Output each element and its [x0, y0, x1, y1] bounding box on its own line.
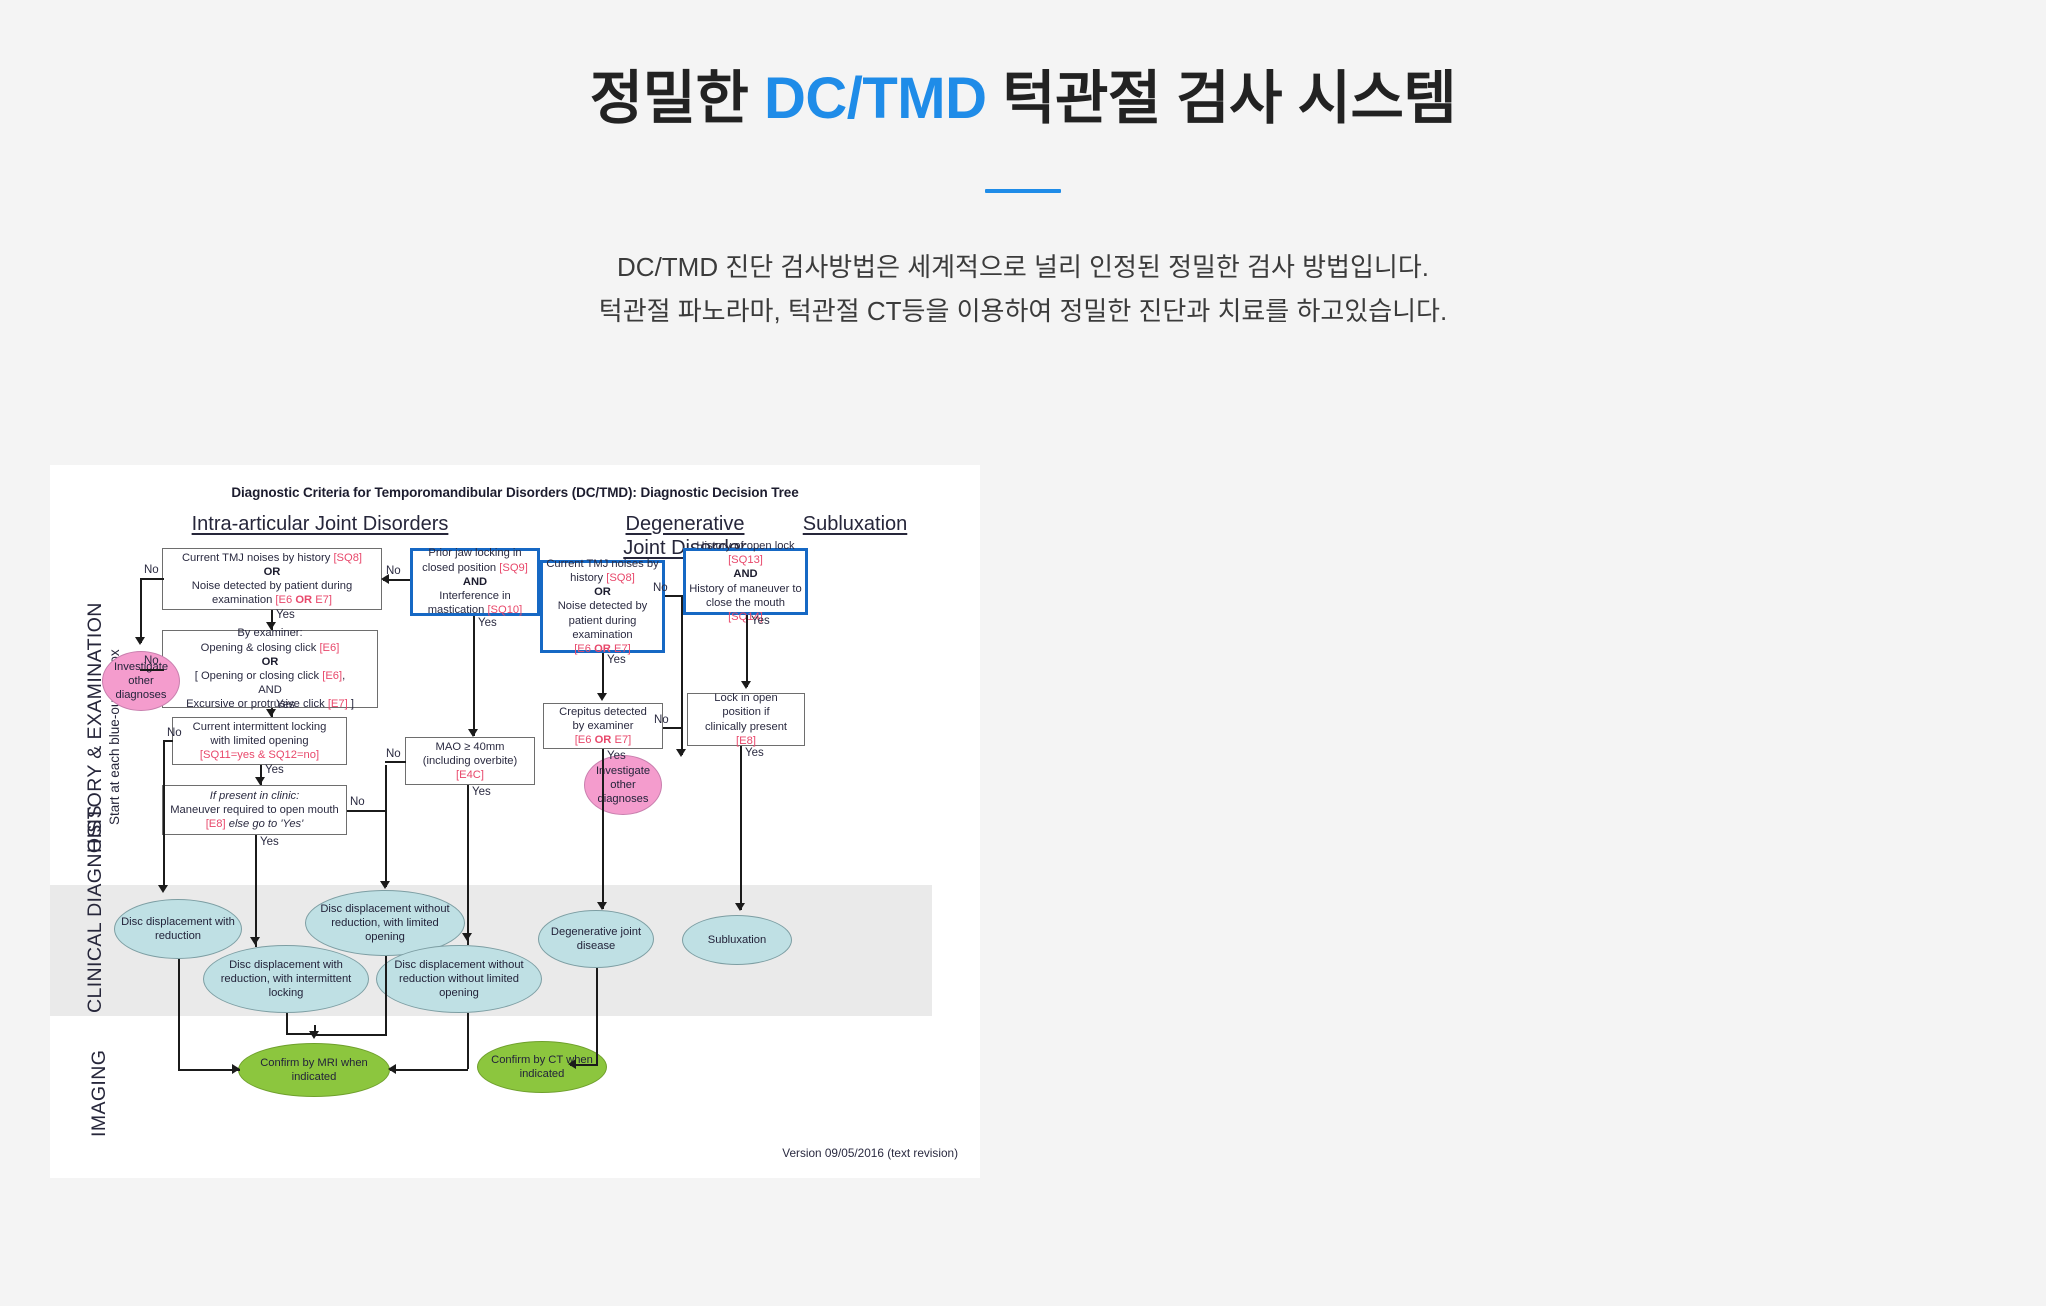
node8-code-e7: E7]: [611, 734, 631, 746]
node1-line1: Current TMJ noises by history: [182, 552, 334, 564]
node4-line3: else go to 'Yes': [226, 818, 304, 830]
side-label-clinical-diagnosis: CLINICAL DIAGNOSIS: [84, 805, 107, 1013]
edge-label-n2-yes: Yes: [276, 699, 295, 711]
edge-label-n3-no: No: [167, 727, 182, 739]
outcome-confirm-by-ct: Confirm by CT when indicated: [477, 1041, 607, 1093]
node2-line4: [ Opening or closing click: [195, 670, 322, 682]
node1-code-e6: [E6: [275, 594, 295, 606]
column-heading-intra-articular: Intra-articular Joint Disorders: [155, 513, 485, 536]
node6-line1: MAO ≥ 40mm: [436, 741, 505, 753]
edge-label-n6-no: No: [386, 748, 401, 760]
node-crepitus-detected: Crepitus detected by examiner [E6 OR E7]: [543, 703, 663, 749]
node4-code-e8: [E8]: [206, 818, 226, 830]
node10-line3: clinically present: [705, 721, 787, 733]
node-by-examiner-clicks: By examiner: Opening & closing click [E6…: [162, 630, 378, 708]
node6-code-e4c: [E4C]: [456, 769, 484, 781]
edge-dx4-mri-arrow: [388, 1064, 396, 1074]
node1-code-e7: E7]: [312, 594, 332, 606]
node2-code-e7: [E7]: [328, 698, 348, 710]
edge-label-n1-yes: Yes: [276, 609, 295, 621]
node9-line1: History of open lock: [696, 540, 794, 552]
edge-dx1-mri-v: [178, 959, 180, 1069]
edge-n2-no-h: [140, 669, 164, 671]
edge-n4-dx2: [255, 835, 257, 947]
edge-n7-n8: [602, 653, 604, 695]
edge-dx1-mri-h: [178, 1069, 240, 1071]
edge-n9-n10: [746, 615, 748, 687]
side-label-imaging-text: IMAGING: [88, 1050, 110, 1137]
node-intermittent-locking: Current intermittent locking with limite…: [172, 717, 347, 765]
node-mao-40mm: MAO ≥ 40mm (including overbite) [E4C]: [405, 737, 535, 785]
node2-line7: Excursive or protrusive click: [186, 698, 328, 710]
node2-code-e6b: [E6]: [322, 670, 342, 682]
outcome-confirm-by-mri: Confirm by MRI when indicated: [238, 1043, 390, 1097]
edge-n1-no-h: [140, 578, 164, 580]
edge-label-n2-no: No: [144, 655, 159, 667]
side-label-clinical-text: CLINICAL DIAGNOSIS: [84, 805, 106, 1013]
node5-code-sq9: [SQ9]: [499, 562, 528, 574]
edge-label-n9-yes: Yes: [751, 615, 770, 627]
edge-label-n7-no: No: [653, 582, 668, 594]
outcome-disc-displacement-with-reduction: Disc displacement with reduction: [114, 899, 242, 959]
title-divider: [985, 189, 1061, 193]
edge-dx2-mri-v: [286, 1013, 288, 1035]
node7-line1: Current TMJ noises by history: [546, 558, 658, 584]
node9-line3: History of maneuver to close the mouth: [689, 583, 802, 609]
edge-n8-no-arrow: [676, 749, 686, 757]
page-title: 정밀한 DC/TMD 턱관절 검사 시스템: [0, 66, 2046, 133]
node8-code-e6: [E6: [575, 734, 595, 746]
edge-label-n5-yes: Yes: [478, 617, 497, 629]
edge-n6-no-h: [385, 761, 406, 763]
edge-n5-n6: [473, 616, 475, 736]
node2-code-e6a: [E6]: [319, 642, 339, 654]
edge-label-n4-yes: Yes: [260, 836, 279, 848]
node7-code-e6: [E6: [574, 643, 594, 655]
node9-code-sq13: [SQ13]: [728, 554, 763, 566]
edge-label-n1-no: No: [144, 564, 159, 576]
edge-dx3-mri-v: [385, 956, 387, 1036]
node6-line2: (including overbite): [423, 755, 518, 767]
edge-dx1-mri-arrow: [232, 1064, 240, 1074]
subtitle-block: DC/TMD 진단 검사방법은 세계적으로 널리 인정된 정밀한 검사 방법입니…: [0, 245, 2046, 334]
edge-n7-no-v: [681, 595, 683, 755]
flowchart-title: Diagnostic Criteria for Temporomandibula…: [50, 485, 980, 500]
outcome-investigate-other-diagnoses-left: Investigate other diagnoses: [102, 651, 180, 711]
edge-dx5-ct-arrow: [568, 1059, 576, 1069]
node3-line1: Current intermittent locking: [193, 721, 327, 733]
page-title-post: 턱관절 검사 시스템: [986, 66, 1456, 131]
node8-code-or: OR: [595, 734, 612, 746]
edge-n8-dx5: [602, 749, 604, 909]
node2-or: OR: [262, 656, 279, 668]
column-heading-subluxation: Subluxation: [780, 513, 930, 536]
node5-and: AND: [463, 576, 487, 588]
edge-dx4-mri-v: [467, 1013, 469, 1069]
edge-n8-no-h: [663, 727, 683, 729]
edge-n3-n4-arrow: [255, 777, 265, 785]
edge-n10-dx6-arrow: [735, 903, 745, 911]
edge-n4-no-h: [347, 810, 387, 812]
edge-dx5-ct-v: [596, 968, 598, 1066]
edge-n4-dx2-arrow: [250, 937, 260, 945]
edge-n7-n8-arrow: [597, 693, 607, 701]
edge-label-n5-no: No: [386, 565, 401, 577]
subtitle-line-2: 턱관절 파노라마, 턱관절 CT등을 이용하여 정밀한 진단과 치료를 하고있습…: [0, 289, 2046, 334]
edge-dx4-mri-h: [390, 1069, 468, 1071]
content-row: Diagnostic Criteria for Temporomandibula…: [50, 465, 1996, 1178]
outcome-disc-displacement-with-reduction-intermittent-locking: Disc displacement with reduction, with i…: [203, 945, 369, 1013]
node1-or: OR: [264, 566, 281, 578]
edge-label-n3-yes: Yes: [265, 764, 284, 776]
edge-n1-no-arrow: [135, 637, 145, 645]
edge-n4-no-arrow: [380, 881, 390, 889]
flowchart: Diagnostic Criteria for Temporomandibula…: [50, 465, 980, 1178]
edge-label-n6-yes: Yes: [472, 786, 491, 798]
node-prior-jaw-locking-closed: Prior jaw locking in closed position [SQ…: [410, 548, 540, 616]
node3-line2: with limited opening: [210, 735, 308, 747]
diagram-version-text: Version 09/05/2016 (text revision): [782, 1146, 958, 1160]
node7-code-sq8: [SQ8]: [606, 572, 635, 584]
node8-line2: by examiner: [573, 720, 634, 732]
page-title-pre: 정밀한: [590, 66, 764, 131]
node2-comma: ,: [342, 670, 345, 682]
edge-label-n4-no: No: [350, 796, 365, 808]
edge-n3-no-arrow: [158, 885, 168, 893]
node2-and: AND: [258, 684, 282, 696]
edge-n8-dx5-arrow: [597, 902, 607, 910]
edge-n2-n3-arrow: [266, 709, 276, 717]
node5-code-sq10: [SQ10]: [487, 604, 522, 616]
outcome-degenerative-joint-disease: Degenerative joint disease: [538, 910, 654, 968]
node10-code-e8: [E8]: [736, 735, 756, 747]
node-lock-in-open-position: Lock in open position if clinically pres…: [687, 693, 805, 746]
subtitle-line-1: DC/TMD 진단 검사방법은 세계적으로 널리 인정된 정밀한 검사 방법입니…: [0, 245, 2046, 290]
outcome-disc-displacement-without-reduction-without-limited-opening: Disc displacement without reduction with…: [376, 945, 542, 1013]
edge-n1-no-v: [140, 578, 142, 643]
outcome-subluxation: Subluxation: [682, 915, 792, 965]
node2-bracket: ]: [348, 698, 354, 710]
edge-n4-no-v: [385, 765, 387, 887]
column-heading-degenerative-line1: Degenerative: [605, 513, 765, 536]
node10-line1: Lock in open: [714, 692, 777, 704]
page-title-accent: DC/TMD: [764, 66, 987, 131]
node-degenerative-tmj-noises: Current TMJ noises by history [SQ8] OR N…: [540, 560, 665, 653]
node2-line2: Opening & closing click: [201, 642, 320, 654]
outcome-investigate-other-diagnoses-middle: Investigate other diagnoses: [584, 755, 662, 815]
edge-n6-dx4: [467, 785, 469, 945]
edge-n5-n6-arrow: [468, 729, 478, 737]
node7-line3: Noise detected by patient during examina…: [558, 600, 648, 640]
node7-or: OR: [594, 586, 611, 598]
edge-n6-dx4-arrow: [462, 933, 472, 941]
node8-line1: Crepitus detected: [559, 706, 647, 718]
node3-code-sq11-sq12: [SQ11=yes & SQ12=no]: [200, 749, 319, 761]
edge-label-n8-no: No: [654, 714, 669, 726]
edge-n3-no-v: [163, 740, 165, 890]
node4-line1: If present in clinic:: [210, 790, 300, 802]
node1-code-sq8: [SQ8]: [333, 552, 362, 564]
node1-code-or: OR: [295, 594, 312, 606]
edge-n1-n2-arrow: [266, 622, 276, 630]
node-current-tmj-noises-history: Current TMJ noises by history [SQ8] OR N…: [162, 548, 382, 610]
node10-line2: position if: [722, 706, 769, 718]
node9-and: AND: [733, 568, 757, 580]
node4-line2: Maneuver required to open mouth: [170, 804, 339, 816]
edge-label-n8-yes: Yes: [607, 750, 626, 762]
edge-dx3-mri-h: [314, 1034, 387, 1036]
edge-label-n10-yes: Yes: [745, 747, 764, 759]
node-maneuver-required-open-mouth: If present in clinic: Maneuver required …: [162, 785, 347, 835]
side-label-imaging: IMAGING: [88, 1050, 111, 1137]
edge-label-n7-yes: Yes: [607, 654, 626, 666]
edge-n10-dx6: [740, 746, 742, 910]
node-history-open-lock: History of open lock [SQ13] AND History …: [683, 548, 808, 615]
edge-n9-n10-arrow: [741, 681, 751, 689]
page-header: 정밀한 DC/TMD 턱관절 검사 시스템 DC/TMD 진단 검사방법은 세계…: [0, 0, 2046, 334]
dctmd-decision-tree-figure: Diagnostic Criteria for Temporomandibula…: [50, 465, 980, 1178]
